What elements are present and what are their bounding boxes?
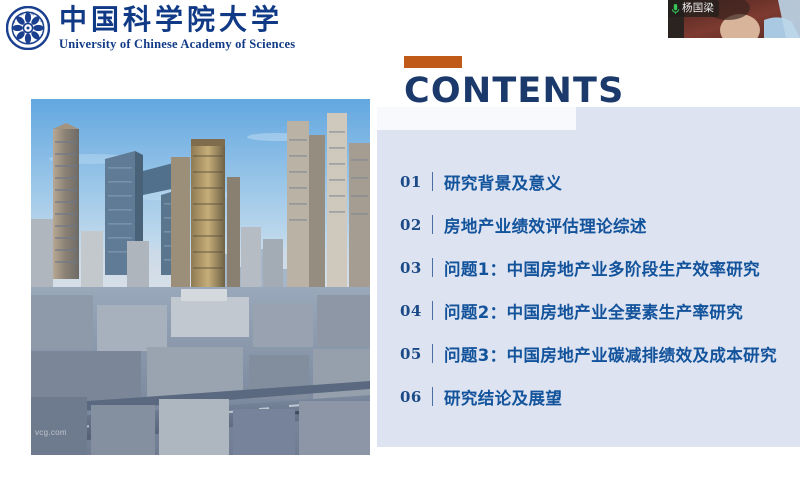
list-item-number: 01 [400,173,424,191]
participant-name-badge: 杨国梁 [668,0,719,17]
skyline-photo: vcg.com [31,99,370,455]
university-name-cn: 中国科学院大学 [59,6,295,34]
list-item[interactable]: 01 研究背景及意义 [400,160,796,203]
list-item-divider [432,215,433,234]
page-title: CONTENTS [404,74,625,109]
contents-list: 01 研究背景及意义 02 房地产业绩效评估理论综述 03 问题1：中国房地产业… [400,160,796,418]
list-item-label: 研究结论及展望 [444,385,796,409]
list-item-number: 03 [400,259,424,277]
microphone-icon [671,3,680,15]
list-item-divider [432,387,433,406]
list-item-number: 05 [400,345,424,363]
university-branding: 中国科学院大学 UNIVERSITY OF CAS 中国科学院大学 Univer… [6,3,295,53]
list-item-divider [432,172,433,191]
list-item-label: 房地产业绩效评估理论综述 [444,213,796,237]
list-item[interactable]: 04 问题2：中国房地产业全要素生产率研究 [400,289,796,332]
accent-bar [404,56,462,68]
list-item-divider [432,258,433,277]
list-item[interactable]: 03 问题1：中国房地产业多阶段生产效率研究 [400,246,796,289]
list-item-number: 02 [400,216,424,234]
presentation-slide: 中国科学院大学 UNIVERSITY OF CAS 中国科学院大学 Univer… [0,0,800,480]
list-item[interactable]: 06 研究结论及展望 [400,375,796,418]
list-item-divider [432,301,433,320]
list-item-number: 04 [400,302,424,320]
list-item[interactable]: 02 房地产业绩效评估理论综述 [400,203,796,246]
video-participant-tile[interactable]: 杨国梁 [668,0,800,38]
university-name-block: 中国科学院大学 University of Chinese Academy of… [59,6,295,51]
list-item-label: 问题3：中国房地产业碳减排绩效及成本研究 [444,342,796,366]
university-name-en: University of Chinese Academy of Science… [59,38,295,51]
ucas-seal-icon: 中国科学院大学 UNIVERSITY OF CAS [6,6,50,50]
list-item-label: 研究背景及意义 [444,170,796,194]
list-item-label: 问题2：中国房地产业全要素生产率研究 [444,299,796,323]
list-item-label: 问题1：中国房地产业多阶段生产效率研究 [444,256,796,280]
list-item-divider [432,344,433,363]
list-item-number: 06 [400,388,424,406]
participant-name: 杨国梁 [682,3,714,14]
list-item[interactable]: 05 问题3：中国房地产业碳减排绩效及成本研究 [400,332,796,375]
